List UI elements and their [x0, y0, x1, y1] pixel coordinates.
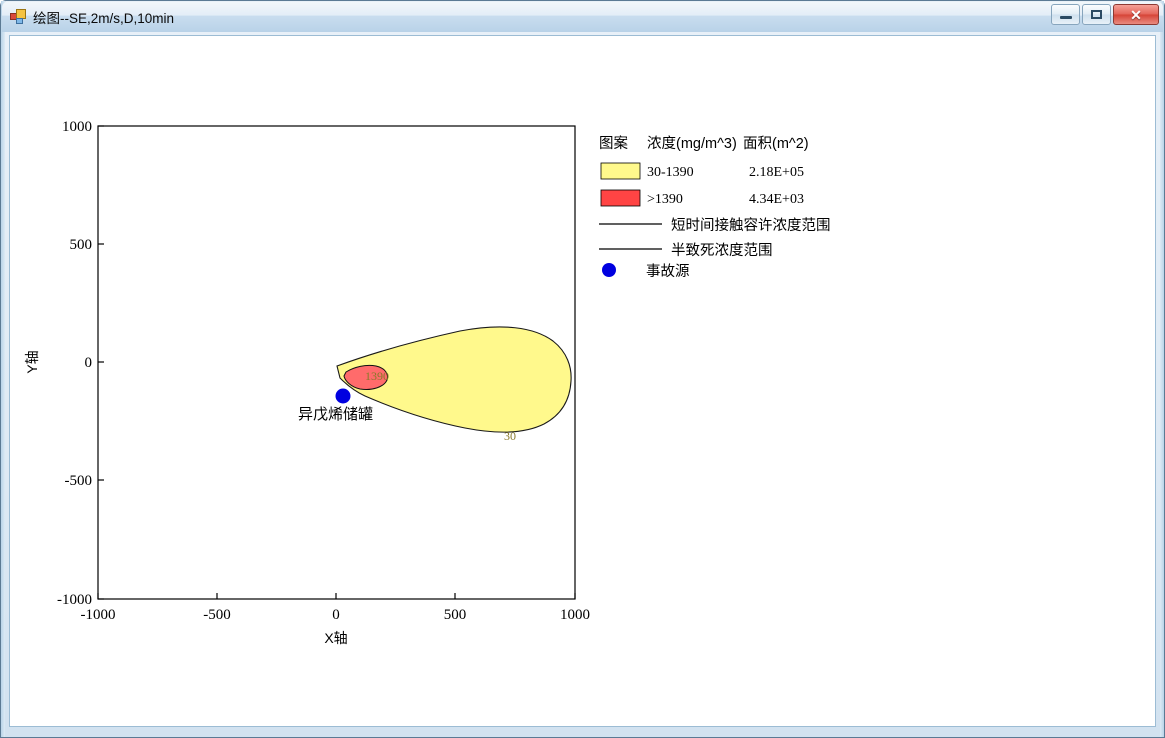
- window-frame-left: [1, 1, 5, 737]
- close-icon: ✕: [1130, 8, 1142, 22]
- x-tick-label: 500: [444, 607, 467, 623]
- x-tick-label: 1000: [560, 607, 590, 623]
- legend-row-area: 4.34E+03: [749, 192, 804, 207]
- legend-swatch-red: [601, 190, 640, 206]
- legend-header-pattern: 图案: [599, 134, 628, 152]
- x-tick-label: 0: [332, 607, 340, 623]
- x-axis-title: X轴: [324, 630, 347, 646]
- x-tick-label: -500: [203, 607, 231, 623]
- contour-label-1390: 1390: [365, 369, 389, 383]
- legend-line-label: 半致死浓度范围: [671, 242, 773, 259]
- y-tick-label: 500: [70, 237, 93, 253]
- y-tick-label: -500: [65, 473, 93, 489]
- minimize-icon: [1060, 16, 1072, 19]
- x-tick-label: -1000: [81, 607, 116, 623]
- window-frame-right: [1160, 1, 1164, 737]
- close-button[interactable]: ✕: [1113, 4, 1159, 25]
- x-axis-ticks: -1000 -500 0 500 1000: [81, 593, 591, 623]
- legend-row-concentration: 30-1390: [647, 165, 694, 180]
- legend: 图案 浓度(mg/m^3) 面积(m^2) 30-1390 2.18E+05 >…: [599, 134, 831, 280]
- window-buttons: ✕: [1051, 4, 1159, 25]
- maximize-icon: [1091, 10, 1102, 19]
- y-axis-title: Y轴: [24, 350, 40, 373]
- minimize-button[interactable]: [1051, 4, 1080, 25]
- y-tick-label: -1000: [57, 592, 92, 608]
- y-axis-ticks: 1000 500 0 -500 -1000: [57, 119, 104, 608]
- legend-header-area: 面积(m^2): [743, 135, 809, 152]
- source-label: 异戊烯储罐: [298, 406, 373, 423]
- legend-source-dot: [602, 263, 616, 277]
- plot-canvas: 1000 500 0 -500 -1000 -1000 -500 0 5: [10, 36, 1156, 727]
- contour-label-30: 30: [504, 429, 516, 443]
- y-tick-label: 0: [85, 355, 93, 371]
- application-window: 绘图--SE,2m/s,D,10min ✕: [0, 0, 1165, 738]
- legend-row-concentration: >1390: [647, 192, 683, 207]
- window-title: 绘图--SE,2m/s,D,10min: [33, 7, 174, 27]
- dispersion-plot: 1000 500 0 -500 -1000 -1000 -500 0 5: [10, 36, 1156, 727]
- y-tick-label: 1000: [62, 119, 92, 135]
- title-bar[interactable]: 绘图--SE,2m/s,D,10min ✕: [2, 2, 1163, 32]
- maximize-button[interactable]: [1082, 4, 1111, 25]
- legend-line-label: 短时间接触容许浓度范围: [671, 217, 831, 234]
- winforms-app-icon: [10, 9, 26, 25]
- client-area: 1000 500 0 -500 -1000 -1000 -500 0 5: [9, 35, 1156, 727]
- legend-row-area: 2.18E+05: [749, 165, 804, 180]
- legend-source-label: 事故源: [646, 263, 690, 280]
- source-marker-dot: [336, 389, 351, 404]
- legend-header-concentration: 浓度(mg/m^3): [647, 135, 737, 152]
- legend-swatch-yellow: [601, 163, 640, 179]
